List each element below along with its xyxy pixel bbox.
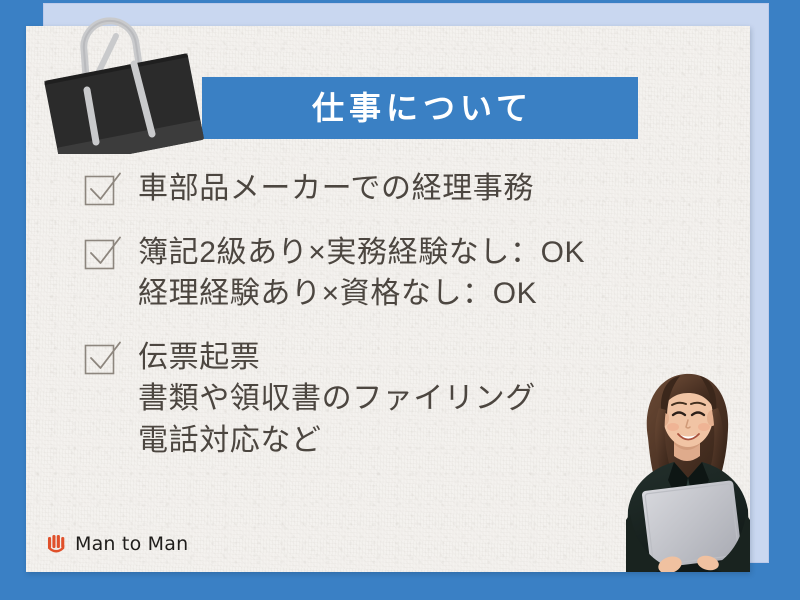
checkbox-checked-icon <box>82 339 122 379</box>
company-logo-text: Man to Man <box>75 533 188 555</box>
binder-clip-icon <box>24 0 214 154</box>
text-line: 経理経験あり×資格なし：OK <box>138 273 585 314</box>
section-title-banner: 仕事について <box>202 77 638 139</box>
job-detail-checklist: 車部品メーカーでの経理事務 簿記2級あり×実務経験なし：OK 経理経験あり×資格… <box>82 168 682 461</box>
list-item: 車部品メーカーでの経理事務 <box>82 168 682 210</box>
text-line: 伝票起票 <box>138 337 536 378</box>
checkbox-checked-icon <box>82 170 122 210</box>
list-item-text: 車部品メーカーでの経理事務 <box>138 168 534 209</box>
businesswoman-with-laptop-photo <box>612 360 764 572</box>
text-line: 書類や領収書のファイリング <box>138 378 536 419</box>
man-to-man-hand-mark-icon <box>46 533 68 555</box>
text-line: 簿記2級あり×実務経験なし：OK <box>138 232 585 273</box>
text-line: 電話対応など <box>138 420 536 461</box>
list-item: 簿記2級あり×実務経験なし：OK 経理経験あり×資格なし：OK <box>82 232 682 315</box>
list-item: 伝票起票 書類や領収書のファイリング 電話対応など <box>82 337 682 461</box>
poster-canvas: 仕事について 車部品メーカーでの経理事務 簿記2級あり× <box>0 0 800 600</box>
company-logo: Man to Man <box>46 533 188 555</box>
section-title-text: 仕事について <box>307 92 533 124</box>
checkbox-checked-icon <box>82 234 122 274</box>
list-item-text: 簿記2級あり×実務経験なし：OK 経理経験あり×資格なし：OK <box>138 232 585 315</box>
list-item-text: 伝票起票 書類や領収書のファイリング 電話対応など <box>138 337 536 461</box>
text-line: 車部品メーカーでの経理事務 <box>138 168 534 209</box>
